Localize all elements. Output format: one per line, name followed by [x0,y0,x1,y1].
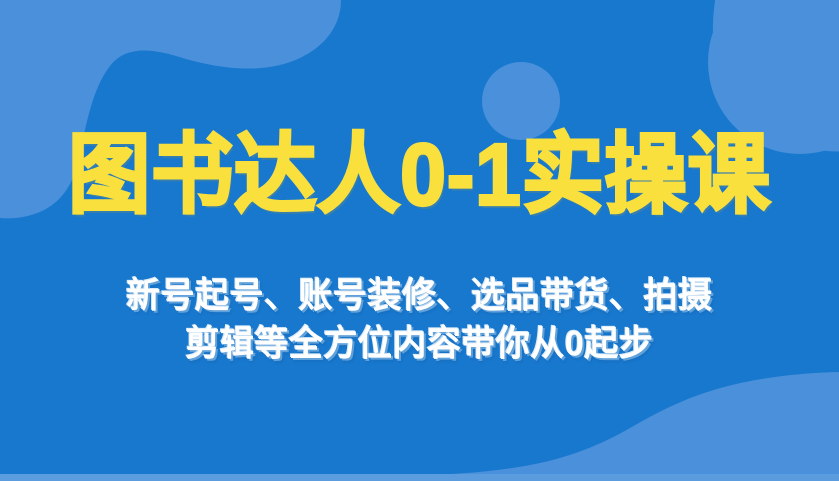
title-row: 图书达人0-1实操课 [0,128,839,224]
banner-title: 图书达人0-1实操课 [68,125,771,227]
banner-content: 图书达人0-1实操课 新号起号、账号装修、选品带货、拍摄 剪辑等全方位内容带你从… [0,0,839,481]
subtitle-line-1: 新号起号、账号装修、选品带货、拍摄 [0,271,839,321]
subtitle-line-2: 剪辑等全方位内容带你从0起步 [0,319,839,369]
subtitle-block: 新号起号、账号装修、选品带货、拍摄 剪辑等全方位内容带你从0起步 [0,272,839,368]
course-promo-banner: 图书达人0-1实操课 新号起号、账号装修、选品带货、拍摄 剪辑等全方位内容带你从… [0,0,839,481]
